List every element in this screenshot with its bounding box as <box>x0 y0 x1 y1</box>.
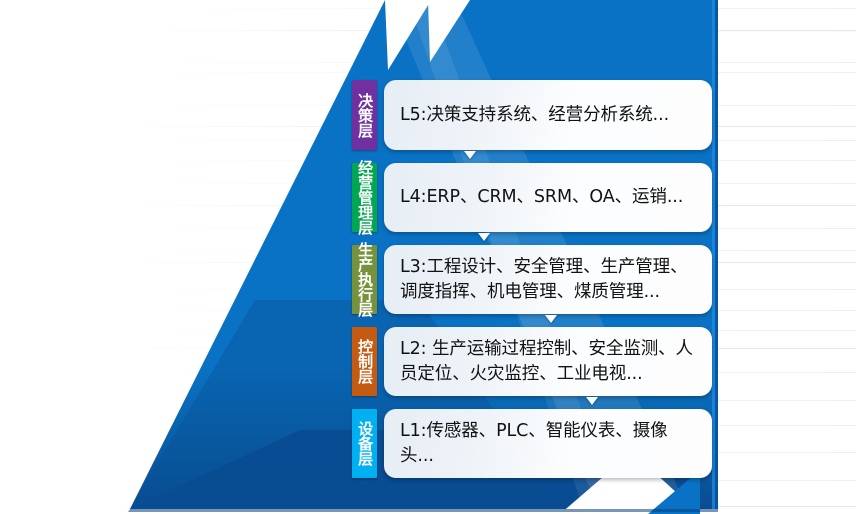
layer-card-l1[interactable]: L1:传感器、PLC、智能仪表、摄像头... <box>384 409 712 478</box>
flow-arrow-4 <box>586 397 598 405</box>
layer-tab-execution[interactable]: 生产执行层 <box>352 245 377 314</box>
layer-tab-label: 经营管理层 <box>357 160 372 235</box>
flow-arrow-2 <box>478 233 490 241</box>
layer-stack: 决策层 L5:决策支持系统、经营分析系统... 经营管理层 L4:ERP、CRM… <box>0 0 856 514</box>
layer-card-text: L5:决策支持系统、经营分析系统... <box>400 103 669 127</box>
layer-tab-management[interactable]: 经营管理层 <box>352 163 377 232</box>
layer-tab-label: 决策层 <box>357 93 372 138</box>
layer-card-l2[interactable]: L2: 生产运输过程控制、安全监测、人员定位、火灾监控、工业电视... <box>384 327 712 396</box>
layer-card-text: L2: 生产运输过程控制、安全监测、人员定位、火灾监控、工业电视... <box>400 337 698 385</box>
layer-tab-device[interactable]: 设备层 <box>352 409 377 478</box>
layer-card-l4[interactable]: L4:ERP、CRM、SRM、OA、运销... <box>384 163 712 232</box>
layer-tab-decision[interactable]: 决策层 <box>352 80 377 150</box>
layer-row-l5[interactable]: 决策层 L5:决策支持系统、经营分析系统... <box>352 80 712 150</box>
layer-card-text: L1:传感器、PLC、智能仪表、摄像头... <box>400 419 698 467</box>
flow-arrow-1 <box>464 151 476 159</box>
flow-arrow-3 <box>545 315 557 323</box>
layer-tab-label: 设备层 <box>357 421 372 466</box>
layer-card-text: L3:工程设计、安全管理、生产管理、调度指挥、机电管理、煤质管理... <box>400 255 698 303</box>
layer-card-l3[interactable]: L3:工程设计、安全管理、生产管理、调度指挥、机电管理、煤质管理... <box>384 245 712 314</box>
diagram-canvas: 决策层 L5:决策支持系统、经营分析系统... 经营管理层 L4:ERP、CRM… <box>0 0 856 514</box>
layer-card-l5[interactable]: L5:决策支持系统、经营分析系统... <box>384 80 712 150</box>
layer-row-l1[interactable]: 设备层 L1:传感器、PLC、智能仪表、摄像头... <box>352 409 712 478</box>
layer-tab-control[interactable]: 控制层 <box>352 327 377 396</box>
layer-tab-label: 生产执行层 <box>357 242 372 317</box>
layer-row-l2[interactable]: 控制层 L2: 生产运输过程控制、安全监测、人员定位、火灾监控、工业电视... <box>352 327 712 396</box>
layer-tab-label: 控制层 <box>357 339 372 384</box>
layer-row-l3[interactable]: 生产执行层 L3:工程设计、安全管理、生产管理、调度指挥、机电管理、煤质管理..… <box>352 245 712 314</box>
layer-row-l4[interactable]: 经营管理层 L4:ERP、CRM、SRM、OA、运销... <box>352 163 712 232</box>
layer-card-text: L4:ERP、CRM、SRM、OA、运销... <box>400 185 683 209</box>
